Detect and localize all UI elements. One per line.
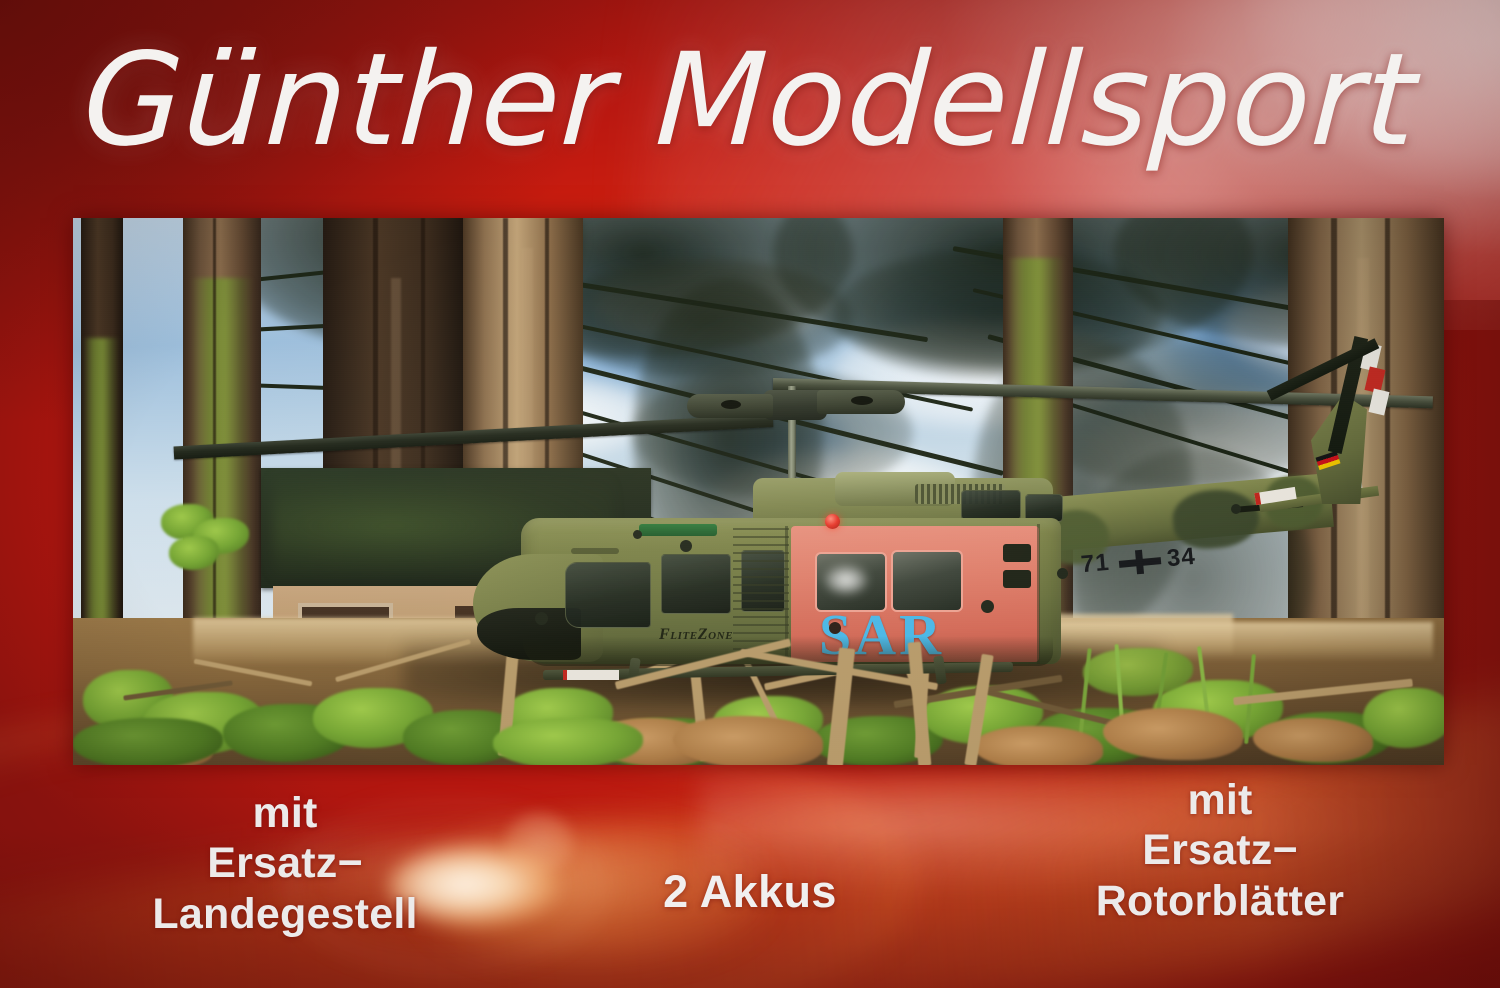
anti-collision-beacon [825,514,840,529]
panel-line [571,548,619,554]
caption-right: mit Ersatz− Rotorblätter [1010,775,1430,926]
tail-number-right: 34 [1166,543,1197,573]
foreground-foliage [73,718,223,765]
balkenkreuz-icon [1118,548,1162,576]
ground-foliage [1363,688,1444,748]
skid-decal [563,670,619,680]
foreground-foliage [493,718,643,765]
door-handle [829,622,841,634]
caption-left: mit Ersatz− Landegestell [85,788,485,939]
fuselage-port [535,612,548,625]
engine-window [961,490,1021,520]
dead-leaf [973,726,1103,765]
page-title: Günther Modellsport [0,26,1500,175]
grip-bolt [721,400,741,409]
vent-panel [1003,544,1031,562]
foreground-leaf [673,716,823,765]
promo-banner: Günther Modellsport [0,0,1500,988]
trunk-moss [83,338,119,638]
tail-port [1231,504,1241,514]
fuselage-port [1057,568,1068,579]
roof-strip [639,524,717,536]
tail-number-left: 71 [1080,549,1111,579]
fuselage-port [680,540,692,552]
fuselage-port [981,600,994,613]
product-photo: 71 34 [73,218,1444,765]
caption-center: 2 Akkus [560,866,940,918]
cockpit-window [661,554,731,614]
trunk-moss [191,278,253,648]
vent-panel [1003,570,1031,588]
cockpit-window [565,562,651,628]
window-glint [825,566,867,594]
fuselage-port [633,530,642,539]
grip-bolt [851,396,873,405]
